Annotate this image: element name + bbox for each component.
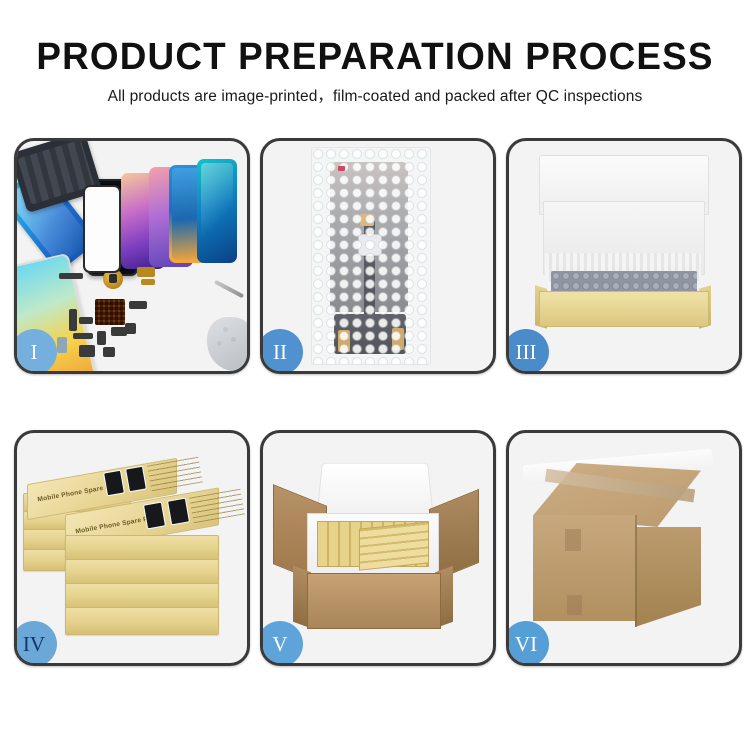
stack-box-r4: [65, 607, 219, 635]
stack-box-r2: [65, 559, 219, 585]
step-panel-6[interactable]: VI: [506, 430, 742, 666]
flex-cable-2-icon: [141, 279, 155, 285]
box-stack-icon: Mobile Phone Spare Parts Mobile Phone Sp…: [23, 449, 237, 645]
step-numeral-6: VI: [515, 634, 537, 655]
steps-grid: I II: [14, 138, 736, 690]
step-badge-5: V: [260, 621, 303, 666]
part-strip-icon: [59, 273, 83, 279]
step-numeral-2: II: [273, 342, 287, 363]
part-small-4-icon: [97, 331, 106, 345]
step-numeral-5: V: [272, 634, 287, 655]
step-numeral-3: III: [516, 342, 537, 363]
carton-tab-top-icon: [565, 529, 581, 551]
tweezers-icon: [214, 280, 244, 299]
box-art-screen-1b: [125, 466, 147, 493]
carton-edge-seam-icon: [635, 515, 637, 627]
step-panel-1[interactable]: I: [14, 138, 250, 374]
carton-tab-bottom-icon: [567, 595, 582, 615]
stack-box-r1: [65, 535, 219, 561]
part-small-7-icon: [125, 323, 136, 334]
box-art-screen-1a: [103, 470, 125, 497]
carton-right-face-icon: [635, 527, 701, 627]
chip-array-icon: [95, 299, 125, 325]
lcd-marker-icon: [338, 166, 345, 171]
step-badge-6: VI: [506, 621, 549, 666]
packed-boxes-2-icon: [359, 521, 429, 570]
page-title: PRODUCT PREPARATION PROCESS: [11, 36, 739, 79]
box-art-screen-2a: [143, 502, 166, 530]
page-subtitle: All products are image-printed，film-coat…: [0, 84, 750, 106]
step-numeral-1: I: [31, 342, 38, 363]
step-panel-3[interactable]: III: [506, 138, 742, 374]
phone-screen-teal-icon: [197, 159, 237, 263]
bubble-texture-icon: [312, 148, 430, 364]
flex-cable-icon: [137, 267, 155, 277]
part-small-3-icon: [73, 333, 93, 339]
part-small-9-icon: [79, 345, 95, 357]
product-preparation-infographic: PRODUCT PREPARATION PROCESS All products…: [0, 0, 750, 750]
stack-box-r3: [65, 583, 219, 609]
step-badge-1: I: [14, 329, 57, 374]
step-panel-2[interactable]: II: [260, 138, 496, 374]
carton-front-icon: [307, 573, 441, 629]
part-small-1-icon: [69, 309, 77, 331]
part-small-6-icon: [129, 301, 147, 309]
step-panel-4[interactable]: Mobile Phone Spare Parts Mobile Phone Sp…: [14, 430, 250, 666]
step-badge-2: II: [260, 329, 303, 374]
hand-icon: [207, 317, 247, 371]
box-front-wall-icon: [539, 291, 709, 327]
bubble-wrap-bag-icon: [311, 147, 431, 365]
step-numeral-4: IV: [23, 634, 45, 655]
part-small-8-icon: [57, 337, 67, 353]
box-art-screen-2b: [167, 498, 190, 526]
part-small-2-icon: [79, 317, 93, 324]
carton-left-face-icon: [533, 515, 637, 621]
step-panel-5[interactable]: V: [260, 430, 496, 666]
step-badge-4: IV: [14, 621, 57, 666]
step-badge-3: III: [506, 329, 549, 374]
phone-screen-white-icon: [83, 185, 121, 273]
part-small-10-icon: [103, 347, 115, 357]
